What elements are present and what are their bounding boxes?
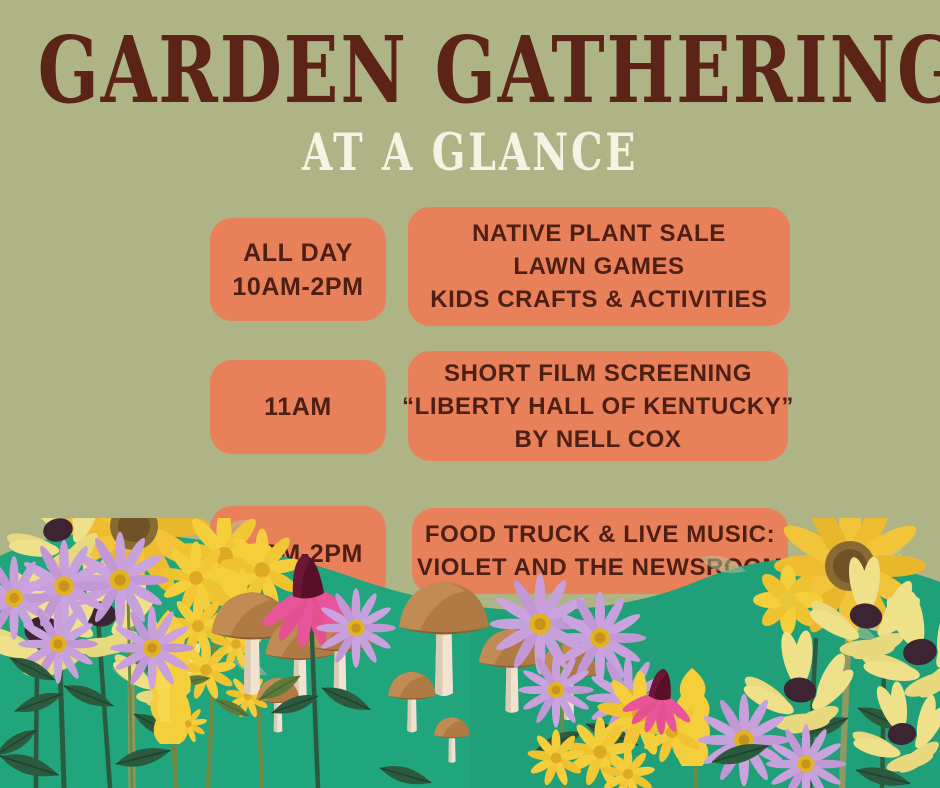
schedule-desc-line: SHORT FILM SCREENING (444, 357, 752, 390)
schedule-desc-line: BY NELL COX (514, 423, 681, 456)
garden-flowers-illustration (0, 518, 940, 788)
schedule-description-badge-1: NATIVE PLANT SALE LAWN GAMES KIDS CRAFTS… (408, 207, 790, 326)
schedule-time-badge-2: 11AM (210, 360, 386, 454)
schedule-time-badge-1: ALL DAY 10AM-2PM (210, 218, 386, 321)
schedule-desc-line: “LIBERTY HALL OF KENTUCKY” (402, 390, 794, 423)
schedule-time-line: 10AM-2PM (232, 270, 363, 304)
schedule-time-line: 11AM (264, 390, 332, 424)
schedule-time-line: ALL DAY (243, 236, 353, 270)
schedule-description-badge-2: SHORT FILM SCREENING “LIBERTY HALL OF KE… (408, 351, 788, 461)
poster-canvas: GARDEN GATHERING AT A GLANCE ALL DAY 10A… (0, 0, 940, 788)
schedule-desc-line: LAWN GAMES (513, 250, 684, 283)
schedule-desc-line: KIDS CRAFTS & ACTIVITIES (430, 283, 768, 316)
schedule-desc-line: NATIVE PLANT SALE (472, 217, 726, 250)
goldenrod-flower (753, 565, 823, 635)
